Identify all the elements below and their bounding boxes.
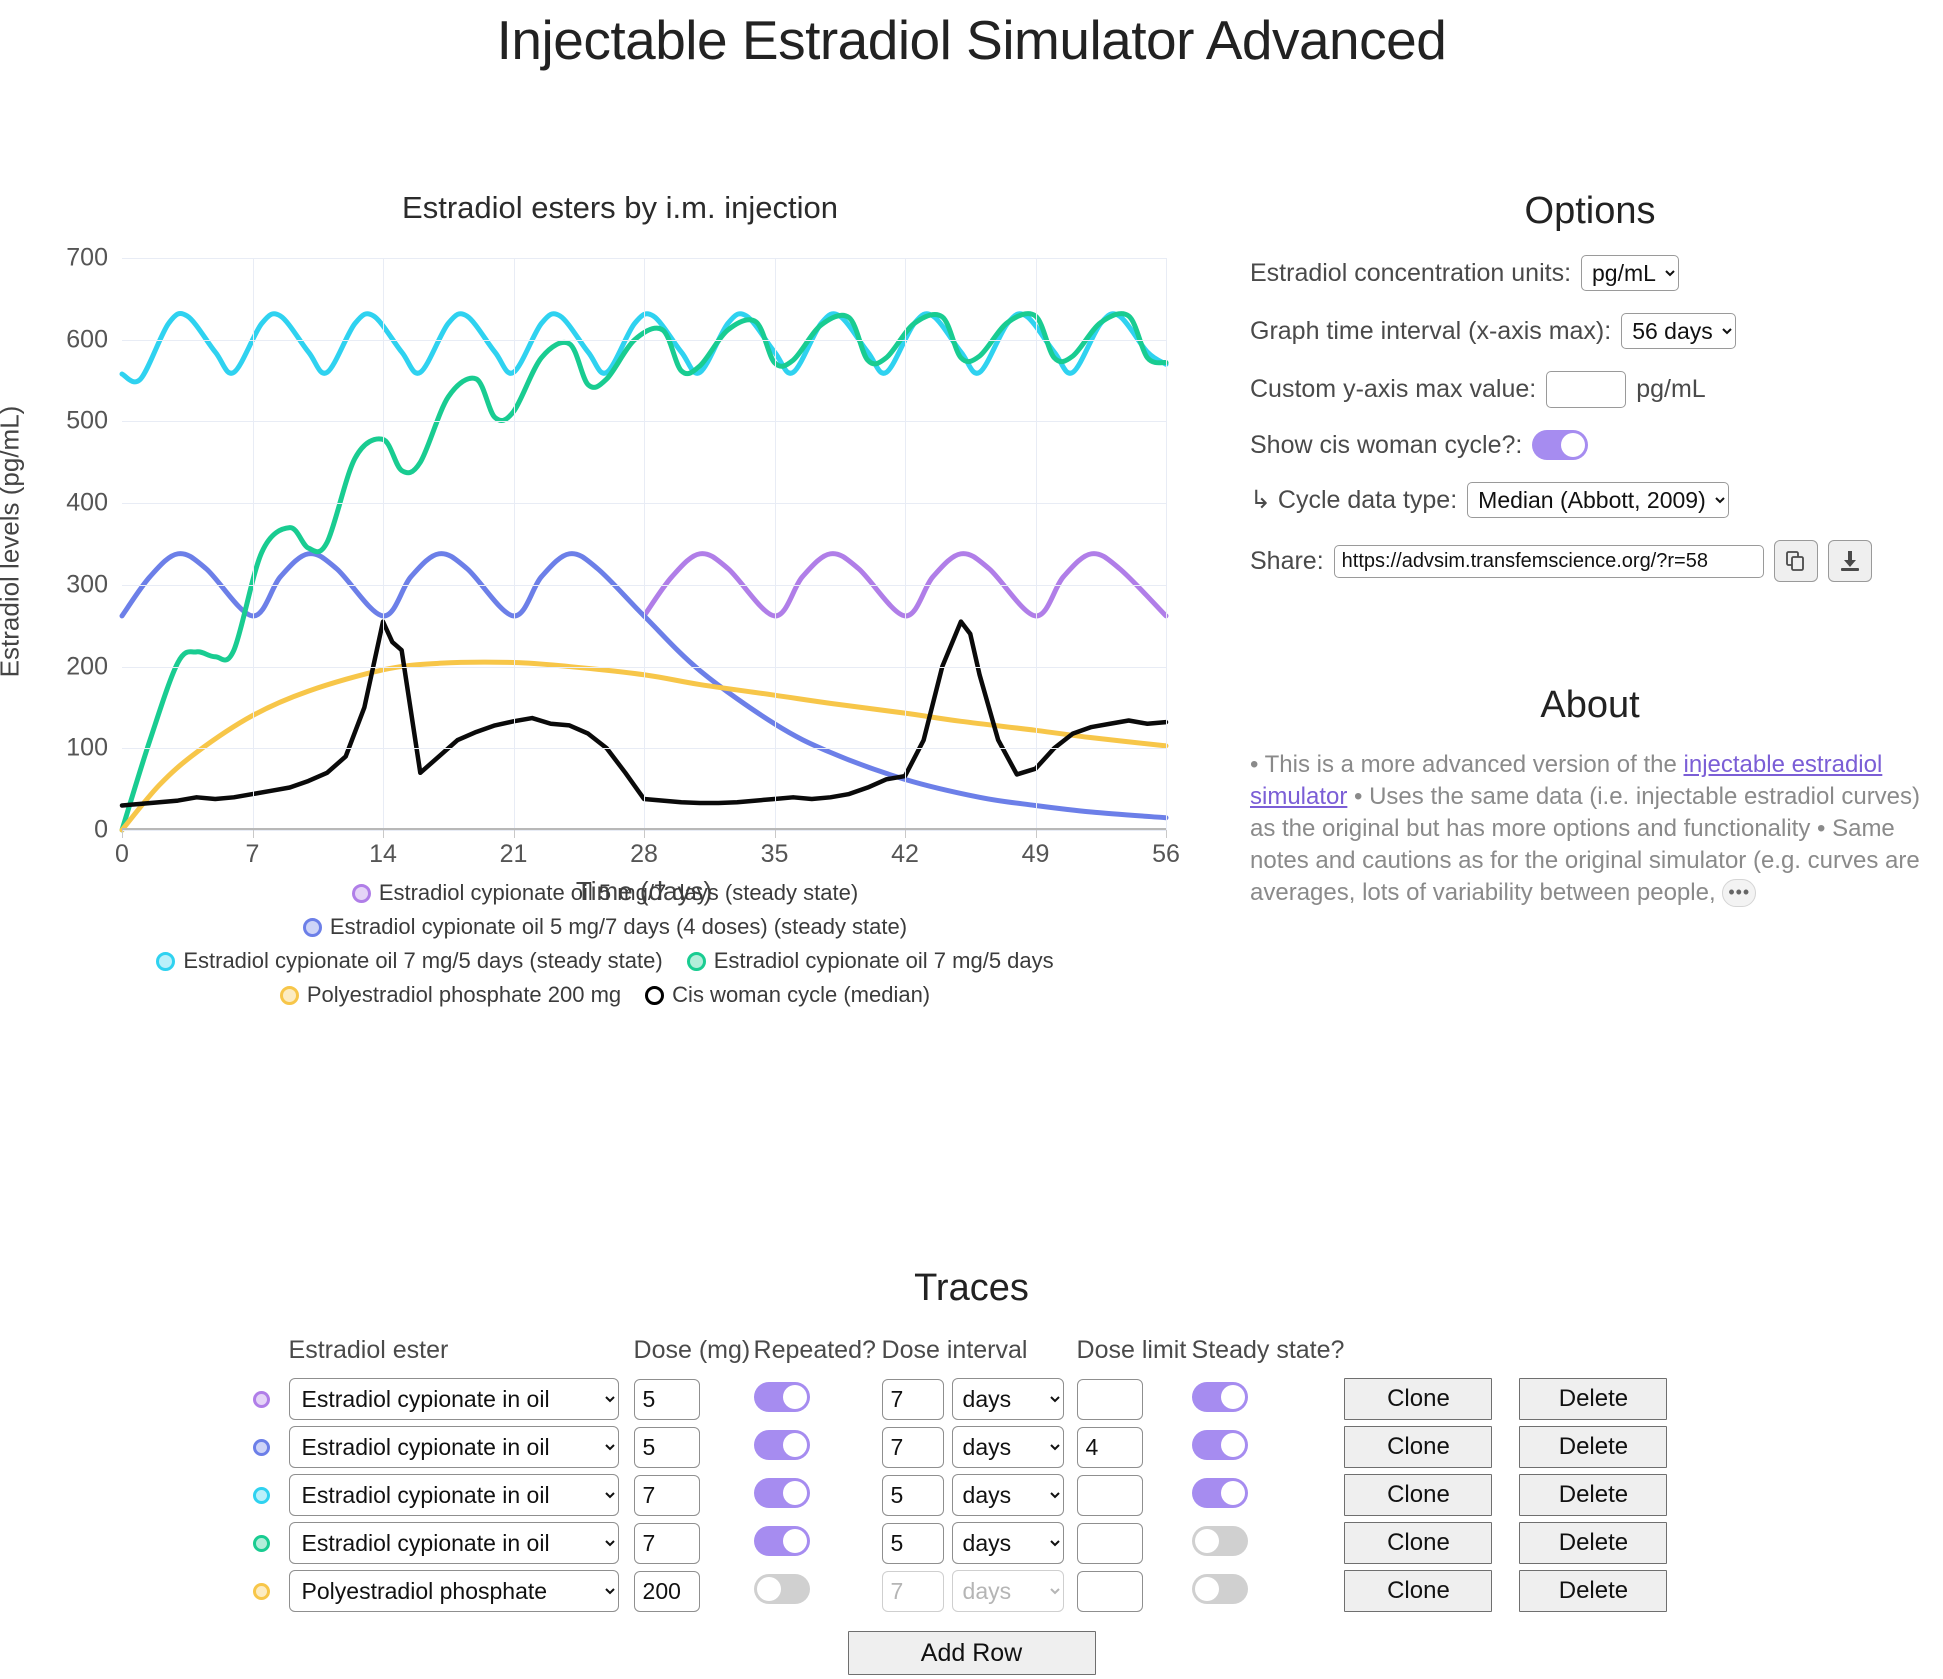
grid-line-vertical (1036, 258, 1037, 830)
repeated-cell (754, 1567, 882, 1615)
page-title: Injectable Estradiol Simulator Advanced (0, 8, 1943, 72)
color-column-header (249, 1336, 289, 1375)
ester-select[interactable]: Estradiol cypionate in oil (289, 1378, 619, 1420)
clone-cell: Clone (1344, 1519, 1519, 1567)
grid-line-vertical (905, 258, 906, 830)
dose-interval-cell: days (882, 1423, 1077, 1471)
y-axis-tick: 700 (66, 244, 122, 273)
trace-color-swatch (253, 1583, 270, 1600)
units-row: Estradiol concentration units: pg/mL (1250, 255, 1930, 291)
grid-line-vertical (253, 258, 254, 830)
steady-state-toggle[interactable] (1192, 1430, 1248, 1460)
chart-legend: Estradiol cypionate oil 5 mg/7 days (ste… (0, 880, 1210, 1008)
x-axis-tick-mark (775, 830, 776, 838)
ester-select[interactable]: Estradiol cypionate in oil (289, 1474, 619, 1516)
about-heading: About (1250, 684, 1930, 727)
delete-button[interactable]: Delete (1519, 1426, 1667, 1468)
y-axis-tick: 600 (66, 325, 122, 354)
ester-select[interactable]: Polyestradiol phosphate (289, 1570, 619, 1612)
repeated-toggle[interactable] (754, 1478, 810, 1508)
dose-interval-input[interactable] (882, 1475, 944, 1516)
x-axis-tick: 35 (761, 840, 789, 869)
traces-table: Estradiol ester Dose (mg) Repeated? Dose… (249, 1336, 1695, 1615)
dose-input[interactable] (634, 1523, 700, 1564)
steady-state-cell (1192, 1567, 1345, 1615)
download-icon[interactable] (1828, 540, 1872, 582)
cycle-data-type-label: ↳ Cycle data type: (1250, 485, 1457, 515)
x-axis-tick: 56 (1152, 840, 1180, 869)
custom-ymax-input[interactable] (1546, 371, 1626, 408)
time-interval-row: Graph time interval (x-axis max): 56 day… (1250, 313, 1930, 349)
cycle-data-type-select[interactable]: Median (Abbott, 2009) (1467, 482, 1729, 518)
steady-state-cell (1192, 1423, 1345, 1471)
time-interval-select[interactable]: 56 days (1621, 313, 1736, 349)
dose-interval-column-header: Dose interval (882, 1336, 1077, 1375)
dose-limit-input[interactable] (1077, 1571, 1143, 1612)
x-axis-tick: 14 (369, 840, 397, 869)
show-cycle-label: Show cis woman cycle?: (1250, 431, 1522, 460)
share-label: Share: (1250, 547, 1324, 576)
grid-line-vertical (644, 258, 645, 830)
x-axis-tick: 42 (891, 840, 919, 869)
traces-body: Estradiol cypionate in oildaysCloneDelet… (249, 1375, 1695, 1615)
dose-column-header: Dose (mg) (634, 1336, 754, 1375)
dose-interval-input[interactable] (882, 1379, 944, 1420)
clone-button[interactable]: Clone (1344, 1474, 1492, 1516)
dose-interval-input[interactable] (882, 1523, 944, 1564)
chart-panel: Estradiol esters by i.m. injection Estra… (0, 190, 1210, 866)
trace-color-cell (249, 1423, 289, 1471)
clone-cell: Clone (1344, 1375, 1519, 1423)
x-axis-tick-mark (122, 830, 123, 838)
custom-ymax-label: Custom y-axis max value: (1250, 375, 1536, 404)
dose-interval-cell: days (882, 1519, 1077, 1567)
delete-cell: Delete (1519, 1471, 1694, 1519)
legend-item[interactable]: Cis woman cycle (median) (645, 982, 930, 1008)
legend-row: Estradiol cypionate oil 7 mg/5 days (ste… (156, 948, 1053, 974)
dose-limit-input[interactable] (1077, 1475, 1143, 1516)
steady-state-toggle[interactable] (1192, 1382, 1248, 1412)
dose-limit-cell (1077, 1567, 1192, 1615)
show-cycle-toggle[interactable] (1532, 430, 1588, 460)
units-label: Estradiol concentration units: (1250, 259, 1571, 288)
table-row: Estradiol cypionate in oildaysCloneDelet… (249, 1375, 1695, 1423)
grid-line-vertical (775, 258, 776, 830)
legend-label: Estradiol cypionate oil 5 mg/7 days (4 d… (330, 914, 907, 940)
legend-item[interactable]: Polyestradiol phosphate 200 mg (280, 982, 621, 1008)
show-cycle-row: Show cis woman cycle?: (1250, 430, 1930, 460)
repeated-cell (754, 1423, 882, 1471)
dose-cell (634, 1423, 754, 1471)
steady-state-toggle[interactable] (1192, 1574, 1248, 1604)
expand-ellipsis-button[interactable]: ••• (1722, 879, 1756, 907)
steady-state-cell (1192, 1519, 1345, 1567)
dose-interval-cell: days (882, 1375, 1077, 1423)
steady-state-cell (1192, 1471, 1345, 1519)
legend-label: Estradiol cypionate oil 5 mg/7 days (ste… (379, 880, 858, 906)
y-axis-label: Estradiol levels (pg/mL) (0, 406, 26, 678)
plot-wrapper: Estradiol levels (pg/mL) 010020030040050… (0, 226, 1210, 866)
steady-state-toggle[interactable] (1192, 1526, 1248, 1556)
repeated-cell (754, 1471, 882, 1519)
clone-cell: Clone (1344, 1471, 1519, 1519)
dose-limit-cell (1077, 1471, 1192, 1519)
plot-area: 01002003004005006007000714212835424956 (122, 258, 1166, 830)
dose-limit-cell (1077, 1375, 1192, 1423)
legend-color-dot (687, 952, 706, 971)
about-text-after: • Uses the same data (i.e. injectable es… (1250, 783, 1920, 906)
clone-button[interactable]: Clone (1344, 1378, 1492, 1420)
dose-input[interactable] (634, 1427, 700, 1468)
legend-color-dot (645, 986, 664, 1005)
copy-icon[interactable] (1774, 540, 1818, 582)
repeated-toggle[interactable] (754, 1574, 810, 1604)
custom-ymax-row: Custom y-axis max value: pg/mL (1250, 371, 1930, 408)
units-select[interactable]: pg/mL (1581, 255, 1679, 291)
dose-limit-cell (1077, 1519, 1192, 1567)
about-text: • This is a more advanced version of the… (1250, 749, 1930, 909)
repeated-cell (754, 1375, 882, 1423)
traces-panel: Traces Estradiol ester Dose (mg) Repeate… (0, 1267, 1943, 1675)
x-axis-tick: 21 (500, 840, 528, 869)
legend-item[interactable]: Estradiol cypionate oil 7 mg/5 days (687, 948, 1054, 974)
grid-line-vertical (383, 258, 384, 830)
legend-color-dot (156, 952, 175, 971)
dose-cell (634, 1567, 754, 1615)
legend-label: Cis woman cycle (median) (672, 982, 930, 1008)
clone-button[interactable]: Clone (1344, 1426, 1492, 1468)
dose-input[interactable] (634, 1571, 700, 1612)
dose-interval-input[interactable] (882, 1571, 944, 1612)
y-axis-tick: 400 (66, 489, 122, 518)
steady-state-cell (1192, 1375, 1345, 1423)
ester-column-header: Estradiol ester (289, 1336, 634, 1375)
repeated-toggle[interactable] (754, 1382, 810, 1412)
legend-color-dot (352, 884, 371, 903)
x-axis-tick-mark (1036, 830, 1037, 838)
trace-color-swatch (253, 1487, 270, 1504)
dose-interval-unit-select[interactable]: days (952, 1522, 1064, 1564)
delete-button[interactable]: Delete (1519, 1378, 1667, 1420)
legend-label: Estradiol cypionate oil 7 mg/5 days (714, 948, 1054, 974)
table-row: Polyestradiol phosphatedaysCloneDelete (249, 1567, 1695, 1615)
legend-color-dot (303, 918, 322, 937)
ester-cell: Estradiol cypionate in oil (289, 1519, 634, 1567)
legend-item[interactable]: Estradiol cypionate oil 7 mg/5 days (ste… (156, 948, 662, 974)
dose-interval-unit-select[interactable]: days (952, 1426, 1064, 1468)
dose-interval-input[interactable] (882, 1427, 944, 1468)
x-axis-tick: 28 (630, 840, 658, 869)
x-axis-tick-mark (644, 830, 645, 838)
legend-item[interactable]: Estradiol cypionate oil 5 mg/7 days (ste… (352, 880, 858, 906)
dose-limit-column-header: Dose limit (1077, 1336, 1192, 1375)
chart-title: Estradiol esters by i.m. injection (30, 190, 1210, 226)
trace-color-cell (249, 1375, 289, 1423)
delete-button[interactable]: Delete (1519, 1570, 1667, 1612)
legend-row: Polyestradiol phosphate 200 mg Cis woman… (280, 982, 930, 1008)
x-axis-tick-mark (905, 830, 906, 838)
trace-color-cell (249, 1471, 289, 1519)
table-row: Estradiol cypionate in oildaysCloneDelet… (249, 1471, 1695, 1519)
ester-select[interactable]: Estradiol cypionate in oil (289, 1522, 619, 1564)
dose-cell (634, 1519, 754, 1567)
traces-heading: Traces (0, 1267, 1943, 1310)
delete-cell: Delete (1519, 1375, 1694, 1423)
repeated-toggle[interactable] (754, 1430, 810, 1460)
about-text-before: • This is a more advanced version of the (1250, 751, 1684, 778)
legend-label: Polyestradiol phosphate 200 mg (307, 982, 621, 1008)
cycle-data-type-row: ↳ Cycle data type: Median (Abbott, 2009) (1250, 482, 1930, 518)
dose-cell (634, 1375, 754, 1423)
ester-cell: Estradiol cypionate in oil (289, 1375, 634, 1423)
custom-ymax-suffix: pg/mL (1636, 375, 1705, 404)
ester-cell: Polyestradiol phosphate (289, 1567, 634, 1615)
delete-cell: Delete (1519, 1519, 1694, 1567)
clone-column-header (1344, 1336, 1519, 1375)
dose-limit-cell (1077, 1423, 1192, 1471)
x-axis-tick-mark (383, 830, 384, 838)
grid-line-vertical (514, 258, 515, 830)
x-axis-line (122, 828, 1166, 830)
y-axis-tick: 500 (66, 407, 122, 436)
dose-limit-input[interactable] (1077, 1427, 1143, 1468)
table-row: Estradiol cypionate in oildaysCloneDelet… (249, 1423, 1695, 1471)
clone-cell: Clone (1344, 1423, 1519, 1471)
dose-interval-cell: days (882, 1471, 1077, 1519)
delete-button[interactable]: Delete (1519, 1474, 1667, 1516)
x-axis-tick-mark (253, 830, 254, 838)
legend-label: Estradiol cypionate oil 7 mg/5 days (ste… (183, 948, 662, 974)
steady-state-column-header: Steady state? (1192, 1336, 1345, 1375)
dose-interval-unit-select[interactable]: days (952, 1474, 1064, 1516)
y-axis-tick: 300 (66, 570, 122, 599)
ester-cell: Estradiol cypionate in oil (289, 1471, 634, 1519)
dose-interval-unit-select[interactable]: days (952, 1570, 1064, 1612)
x-axis-tick: 7 (246, 840, 260, 869)
dose-limit-input[interactable] (1077, 1523, 1143, 1564)
ester-cell: Estradiol cypionate in oil (289, 1423, 634, 1471)
share-row: Share: (1250, 540, 1930, 582)
trace-color-swatch (253, 1535, 270, 1552)
legend-row: Estradiol cypionate oil 5 mg/7 days (ste… (352, 880, 858, 906)
y-axis-tick: 100 (66, 734, 122, 763)
legend-row: Estradiol cypionate oil 5 mg/7 days (4 d… (303, 914, 907, 940)
delete-column-header (1519, 1336, 1694, 1375)
ester-select[interactable]: Estradiol cypionate in oil (289, 1426, 619, 1468)
y-axis-tick: 200 (66, 652, 122, 681)
clone-cell: Clone (1344, 1567, 1519, 1615)
add-row-wrapper: Add Row (0, 1631, 1943, 1675)
traces-header-row: Estradiol ester Dose (mg) Repeated? Dose… (249, 1336, 1695, 1375)
x-axis-tick: 49 (1022, 840, 1050, 869)
dose-cell (634, 1471, 754, 1519)
delete-cell: Delete (1519, 1567, 1694, 1615)
clone-button[interactable]: Clone (1344, 1570, 1492, 1612)
legend-color-dot (280, 986, 299, 1005)
grid-line-vertical (1166, 258, 1167, 830)
dose-limit-input[interactable] (1077, 1379, 1143, 1420)
dose-input[interactable] (634, 1475, 700, 1516)
repeated-column-header: Repeated? (754, 1336, 882, 1375)
dose-input[interactable] (634, 1379, 700, 1420)
delete-cell: Delete (1519, 1423, 1694, 1471)
trace-color-cell (249, 1567, 289, 1615)
steady-state-toggle[interactable] (1192, 1478, 1248, 1508)
x-axis-tick-mark (514, 830, 515, 838)
trace-color-swatch (253, 1439, 270, 1456)
delete-button[interactable]: Delete (1519, 1522, 1667, 1564)
trace-color-swatch (253, 1391, 270, 1408)
time-interval-label: Graph time interval (x-axis max): (1250, 317, 1611, 346)
repeated-toggle[interactable] (754, 1526, 810, 1556)
x-axis-tick: 0 (115, 840, 129, 869)
repeated-cell (754, 1519, 882, 1567)
clone-button[interactable]: Clone (1344, 1522, 1492, 1564)
trace-color-cell (249, 1519, 289, 1567)
table-row: Estradiol cypionate in oildaysCloneDelet… (249, 1519, 1695, 1567)
legend-item[interactable]: Estradiol cypionate oil 5 mg/7 days (4 d… (303, 914, 907, 940)
share-url-input[interactable] (1334, 545, 1764, 578)
x-axis-tick-mark (1166, 830, 1167, 838)
about-panel: About • This is a more advanced version … (1250, 684, 1930, 909)
options-panel: Options Estradiol concentration units: p… (1250, 190, 1930, 604)
dose-interval-cell: days (882, 1567, 1077, 1615)
add-row-button[interactable]: Add Row (848, 1631, 1096, 1675)
dose-interval-unit-select[interactable]: days (952, 1378, 1064, 1420)
options-heading: Options (1250, 190, 1930, 233)
